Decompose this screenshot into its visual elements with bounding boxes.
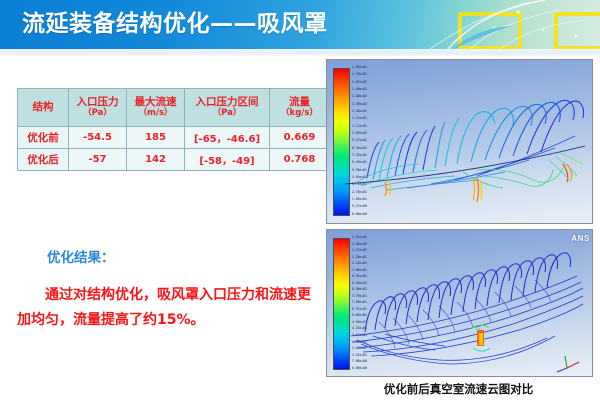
cell-structure: 优化后 xyxy=(18,149,69,171)
table-header-structure: 结构 xyxy=(18,89,69,127)
figure-caption: 优化前后真空室流速云图对比 xyxy=(326,381,591,397)
header-label: 最大流速 xyxy=(135,96,177,108)
header-unit: （Pa） xyxy=(70,108,125,119)
table-row: 优化后 -57 142 [-58，-49] 0.768 xyxy=(18,149,330,171)
cell-inlet-pressure: -57 xyxy=(69,149,127,171)
table-row: 优化前 -54.5 185 [-65，-46.6] 0.669 xyxy=(18,127,330,149)
cell-inlet-pressure: -54.5 xyxy=(69,127,127,149)
cell-max-velocity: 185 xyxy=(127,127,185,149)
conclusion-body: 通过对结构优化，吸风罩入口压力和流速更加均匀，流量提高了约15%。 xyxy=(17,283,322,333)
cell-flow-rate: 0.768 xyxy=(270,149,330,171)
cell-max-velocity: 142 xyxy=(127,149,185,171)
header-label: 入口压力 xyxy=(77,96,119,108)
header-label: 流量 xyxy=(289,96,310,108)
cell-structure: 优化前 xyxy=(18,127,69,149)
results-table-container: 结构 入口压力 （Pa） 最大流速 （m/s） 入口压力区间 （Pa） xyxy=(17,88,314,171)
header-unit: （Pa） xyxy=(186,108,268,119)
cell-pressure-range: [-58，-49] xyxy=(185,149,270,171)
slide-canvas: 流延装备结构优化——吸风罩 结构 入口压力 （Pa） 最大流速 （m/s） xyxy=(0,0,600,410)
streamline-plot-before xyxy=(327,60,592,223)
cfd-figure-after: 1.42e+02 1.35e+02 1.27e+02 1.20e+02 1.13… xyxy=(326,229,593,377)
header-divider xyxy=(0,49,600,56)
conclusion-label: 优化结果： xyxy=(47,246,115,266)
cfd-figure-before: 1.85e+02 1.76e+02 1.67e+02 1.58e+02 1.48… xyxy=(326,59,593,224)
table-header-row: 结构 入口压力 （Pa） 最大流速 （m/s） 入口压力区间 （Pa） xyxy=(18,89,330,127)
table-header-pressure-range: 入口压力区间 （Pa） xyxy=(185,89,270,127)
table-header-flow-rate: 流量 （kg/s） xyxy=(270,89,330,127)
cell-flow-rate: 0.669 xyxy=(270,127,330,149)
table-header-max-velocity: 最大流速 （m/s） xyxy=(127,89,185,127)
table-header-inlet-pressure: 入口压力 （Pa） xyxy=(69,89,127,127)
slide-header: 流延装备结构优化——吸风罩 xyxy=(0,0,600,49)
streamline-plot-after xyxy=(327,230,592,376)
page-title: 流延装备结构优化——吸风罩 xyxy=(22,7,328,41)
header-unit: （m/s） xyxy=(128,108,183,119)
axis-triad-icon xyxy=(557,356,579,372)
results-table: 结构 入口压力 （Pa） 最大流速 （m/s） 入口压力区间 （Pa） xyxy=(17,88,330,171)
cell-pressure-range: [-65，-46.6] xyxy=(185,127,270,149)
header-unit: （kg/s） xyxy=(271,108,328,119)
header-label: 结构 xyxy=(33,101,54,113)
header-label: 入口压力区间 xyxy=(196,96,259,108)
